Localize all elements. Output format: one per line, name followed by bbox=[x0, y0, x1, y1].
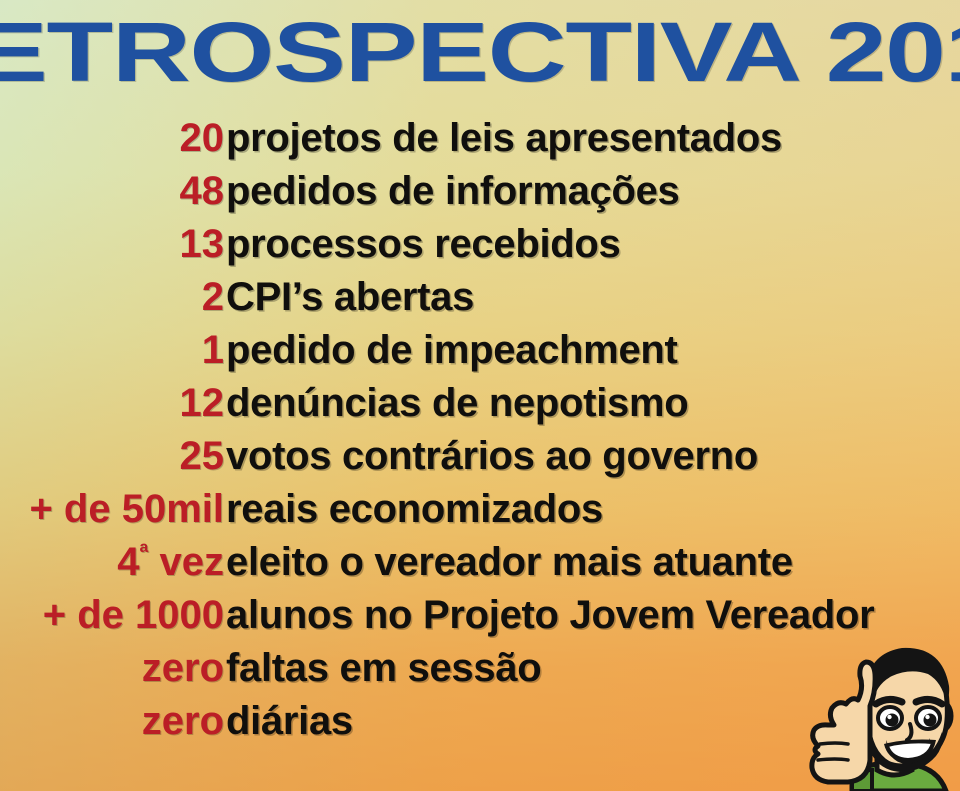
stat-count: zero bbox=[0, 642, 224, 695]
stat-label: reais economizados bbox=[224, 483, 603, 536]
stat-count: 25 bbox=[0, 430, 224, 483]
stat-count: 1 bbox=[0, 324, 224, 377]
stat-row: 2CPI’s abertas bbox=[0, 271, 960, 324]
stat-row: 20projetos de leis apresentados bbox=[0, 112, 960, 165]
stat-count: zero bbox=[0, 695, 224, 748]
stat-label: CPI’s abertas bbox=[224, 271, 474, 324]
stat-row: 4ª vezeleito o vereador mais atuante bbox=[0, 536, 960, 589]
stat-row: zerofaltas em sessão bbox=[0, 642, 960, 695]
stat-label: diárias bbox=[224, 695, 353, 748]
stat-label: projetos de leis apresentados bbox=[224, 112, 782, 165]
stat-row: + de 1000alunos no Projeto Jovem Vereado… bbox=[0, 589, 960, 642]
poster-title-bar: RETROSPECTIVA 2019 bbox=[0, 6, 960, 98]
stat-row: 25votos contrários ao governo bbox=[0, 430, 960, 483]
stat-count: + de 50mil bbox=[0, 483, 224, 536]
stat-label: pedidos de informações bbox=[224, 165, 680, 218]
stat-row: zerodiárias bbox=[0, 695, 960, 748]
stat-label: pedido de impeachment bbox=[224, 324, 678, 377]
stats-list: 20projetos de leis apresentados48pedidos… bbox=[0, 112, 960, 748]
stat-count: 20 bbox=[0, 112, 224, 165]
page-title: RETROSPECTIVA 2019 bbox=[0, 8, 960, 96]
stat-row: 13processos recebidos bbox=[0, 218, 960, 271]
stat-count: + de 1000 bbox=[0, 589, 224, 642]
stat-count: 4ª vez bbox=[0, 536, 224, 589]
stat-count: 13 bbox=[0, 218, 224, 271]
stat-label: eleito o vereador mais atuante bbox=[224, 536, 793, 589]
stat-label: alunos no Projeto Jovem Vereador bbox=[224, 589, 874, 642]
stat-count: 12 bbox=[0, 377, 224, 430]
stat-row: + de 50milreais economizados bbox=[0, 483, 960, 536]
retrospectiva-poster: RETROSPECTIVA 2019 20projetos de leis ap… bbox=[0, 0, 960, 791]
stat-label: votos contrários ao governo bbox=[224, 430, 758, 483]
stat-label: faltas em sessão bbox=[224, 642, 541, 695]
stat-count: 2 bbox=[0, 271, 224, 324]
stat-row: 48pedidos de informações bbox=[0, 165, 960, 218]
stat-label: denúncias de nepotismo bbox=[224, 377, 688, 430]
stat-row: 1pedido de impeachment bbox=[0, 324, 960, 377]
stat-count: 48 bbox=[0, 165, 224, 218]
stat-row: 12denúncias de nepotismo bbox=[0, 377, 960, 430]
stat-label: processos recebidos bbox=[224, 218, 620, 271]
